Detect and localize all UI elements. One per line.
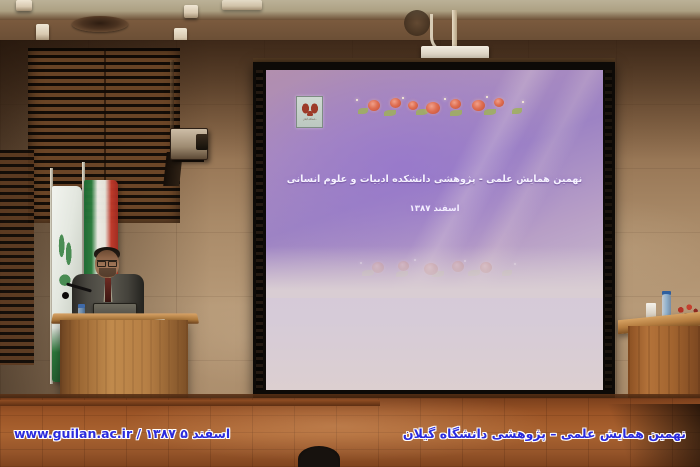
- ceiling-fan-shadow: [404, 10, 430, 36]
- caption-website-and-date: www.guilan.ac.ir / ۱۳۸۷ اسفند ۵: [14, 426, 230, 441]
- slide-date: اسفند ۱۳۸۷: [266, 204, 603, 214]
- projection-screen-surface: دانشگاه گیلان: [266, 70, 603, 390]
- university-logo-icon: دانشگاه گیلان: [296, 96, 323, 128]
- logo-caption: دانشگاه گیلان: [303, 118, 317, 121]
- presenter-glasses-icon: [97, 260, 117, 265]
- acoustic-wood-slat-panel: [0, 150, 34, 365]
- camera-lens-icon: [196, 134, 208, 150]
- microphone-head-icon: [62, 292, 69, 299]
- floral-ornament-top: [350, 96, 536, 118]
- ceiling-light-strip: [222, 0, 262, 10]
- photo-canvas: دانشگاه گیلان: [0, 0, 700, 467]
- caption-event-title: نهمین همایش علمی – پژوهشی دانشگاه گیلان: [403, 426, 686, 441]
- ceiling-spotlight: [16, 0, 32, 11]
- slide-bottom-fade: [266, 246, 603, 298]
- audience-member-silhouette: [298, 446, 340, 467]
- ceiling-air-vent-icon: [72, 16, 128, 32]
- ceiling-spotlight: [36, 24, 49, 41]
- slide-title: نهمین همایش علمی - پژوهشی دانشکده ادبیات…: [266, 174, 603, 185]
- presenter-tie: [105, 278, 111, 302]
- projected-slide: دانشگاه گیلان: [266, 70, 603, 298]
- wall-conduit: [170, 60, 174, 130]
- podium-bottle-cap: [78, 304, 85, 308]
- stage-edge: [0, 400, 380, 406]
- presenter-beard: [99, 268, 116, 277]
- logo-mark: [302, 103, 318, 116]
- ceiling-spotlight: [184, 5, 198, 18]
- panel-divider: [28, 140, 180, 142]
